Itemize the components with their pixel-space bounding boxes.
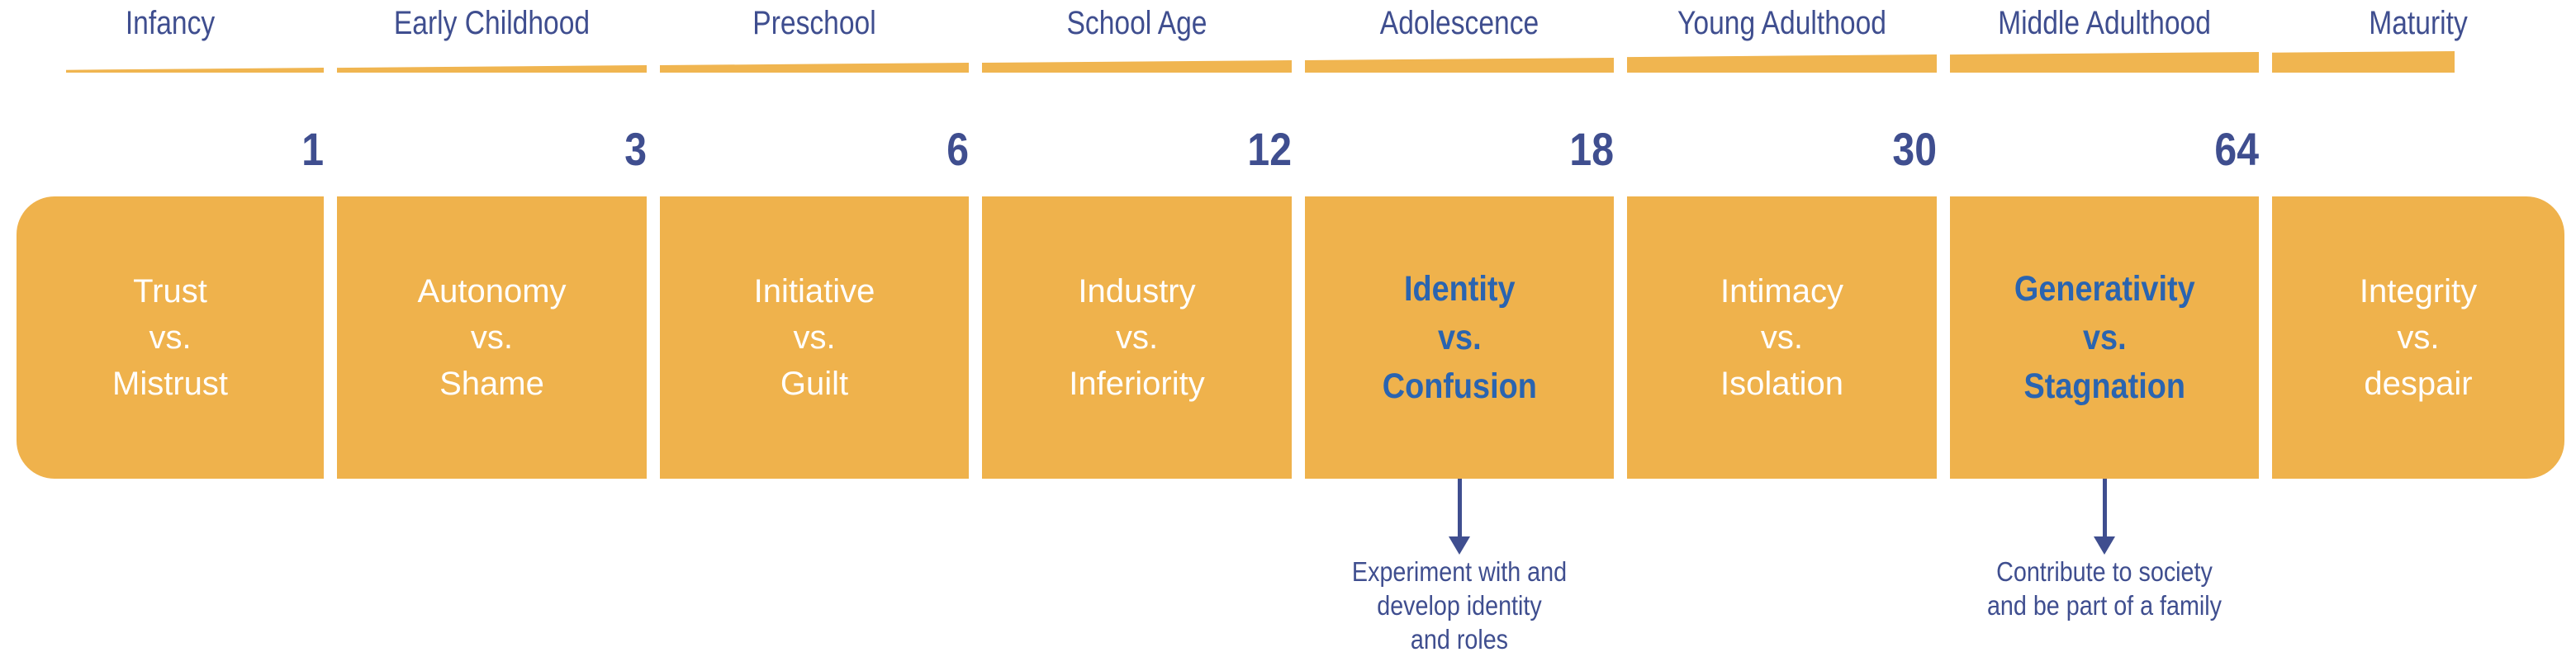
stage-block-label: Initiative vs. Guilt (754, 268, 875, 407)
stage-block-4[interactable]: Industry vs. Inferiority (982, 196, 1292, 479)
stage-block-label: Trust vs. Mistrust (112, 268, 228, 407)
erikson-stages-diagram: InfancyEarly ChildhoodPreschoolSchool Ag… (0, 0, 2576, 671)
annotation-caption: Contribute to society and be part of a f… (1947, 555, 2263, 622)
age-number-3: 3 (434, 122, 647, 177)
age-number-64: 64 (2046, 122, 2259, 177)
arrow-head (1449, 536, 1470, 555)
annotation-1: Experiment with and develop identity and… (1278, 479, 1641, 656)
wedge-segment-6 (1627, 54, 1937, 73)
stage-header-8: Maturity (2295, 3, 2540, 43)
stage-header-7: Middle Adulthood (1975, 3, 2234, 43)
wedge-segment-3 (660, 63, 969, 73)
stage-block-5[interactable]: Identity vs. Confusion (1305, 196, 1614, 479)
stage-block-7[interactable]: Generativity vs. Stagnation (1950, 196, 2259, 479)
wedge-segment-1 (66, 68, 324, 73)
wedge-segment-5 (1305, 58, 1614, 73)
wedge-segment-4 (982, 60, 1292, 73)
stage-header-1: Infancy (41, 3, 299, 43)
stage-block-label: Integrity vs. despair (2360, 268, 2477, 407)
stage-block-label: Intimacy vs. Isolation (1720, 268, 1843, 407)
stage-block-2[interactable]: Autonomy vs. Shame (337, 196, 647, 479)
stage-block-8[interactable]: Integrity vs. despair (2272, 196, 2564, 479)
stage-header-2: Early Childhood (362, 3, 622, 43)
age-number-12: 12 (1079, 122, 1292, 177)
stage-block-1[interactable]: Trust vs. Mistrust (17, 196, 324, 479)
timeline-wedge (0, 43, 2576, 73)
stage-block-label: Generativity vs. Stagnation (2014, 265, 2195, 411)
age-number-18: 18 (1401, 122, 1614, 177)
annotation-2: Contribute to society and be part of a f… (1923, 479, 2286, 622)
stage-block-label: Industry vs. Inferiority (1069, 268, 1205, 407)
age-numbers-row: 13612183064 (0, 122, 2576, 182)
wedge-segment-8 (2272, 51, 2455, 73)
annotation-caption: Experiment with and develop identity and… (1302, 555, 1618, 656)
wedge-segment-2 (337, 65, 647, 73)
stage-header-4: School Age (1007, 3, 1267, 43)
stage-header-3: Preschool (685, 3, 944, 43)
arrow-shaft (2103, 479, 2107, 540)
stage-headers-row: InfancyEarly ChildhoodPreschoolSchool Ag… (0, 0, 2576, 46)
arrow-head (2094, 536, 2115, 555)
stage-blocks-row: Trust vs. MistrustAutonomy vs. ShameInit… (0, 196, 2576, 479)
age-number-1: 1 (111, 122, 324, 177)
stage-block-label: Identity vs. Confusion (1382, 265, 1536, 411)
arrow-shaft (1458, 479, 1462, 540)
stage-block-3[interactable]: Initiative vs. Guilt (660, 196, 969, 479)
stage-header-5: Adolescence (1330, 3, 1589, 43)
stage-block-6[interactable]: Intimacy vs. Isolation (1627, 196, 1937, 479)
down-arrow-icon (1923, 479, 2286, 555)
age-number-6: 6 (756, 122, 969, 177)
stage-block-label: Autonomy vs. Shame (417, 268, 566, 407)
wedge-segment-7 (1950, 52, 2259, 73)
age-number-30: 30 (1724, 122, 1937, 177)
down-arrow-icon (1278, 479, 1641, 555)
stage-header-6: Young Adulthood (1652, 3, 1912, 43)
